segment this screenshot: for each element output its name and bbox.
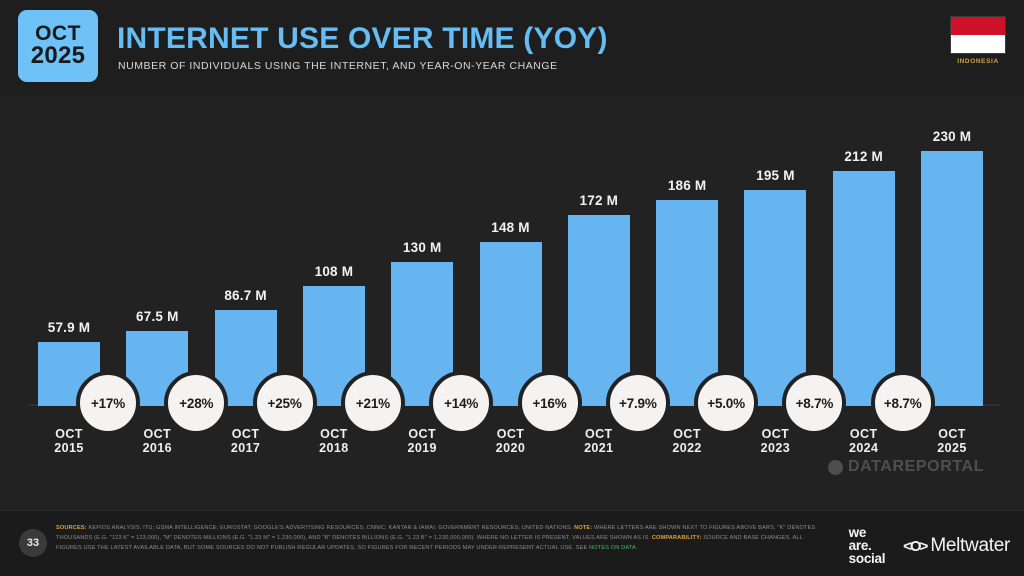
country-label: INDONESIA <box>957 58 999 65</box>
brand-logos: weare.social <O> Meltwater <box>849 527 1010 565</box>
yoy-change-bubble: +7.9% <box>606 371 670 435</box>
x-label-line: 2025 <box>937 441 966 455</box>
bar <box>833 171 895 406</box>
comparability-label: COMPARABILITY: <box>652 535 702 541</box>
bar-column: 230 MOCT2025 <box>913 96 1005 511</box>
x-label-line: 2015 <box>54 441 83 455</box>
notes-on-data-link[interactable]: NOTES ON DATA <box>589 545 636 551</box>
bar-value-label: 67.5 M <box>118 309 196 324</box>
x-label-line: 2017 <box>231 441 260 455</box>
slide-header: OCT 2025 INTERNET USE OVER TIME (YOY) NU… <box>0 0 1024 96</box>
slide-root: OCT 2025 INTERNET USE OVER TIME (YOY) NU… <box>0 0 1024 576</box>
bar-value-label: 230 M <box>913 129 991 144</box>
page-number-badge: 33 <box>19 529 47 557</box>
note-label: NOTE: <box>574 525 592 531</box>
bar-column: 195 MOCT2023 <box>736 96 828 511</box>
x-label-line: OCT <box>585 427 613 441</box>
date-badge-year: 2025 <box>31 44 86 68</box>
bar-column: 67.5 MOCT2016 <box>118 96 210 511</box>
bar-value-label: 130 M <box>383 240 461 255</box>
page-title: INTERNET USE OVER TIME (YOY) <box>117 22 608 56</box>
x-label-line: OCT <box>408 427 436 441</box>
x-label-line: 2023 <box>761 441 790 455</box>
yoy-change-bubble: +28% <box>164 371 228 435</box>
meltwater-eye-icon: <O> <box>903 538 926 555</box>
x-label-line: OCT <box>762 427 790 441</box>
bar-chart: 57.9 MOCT201567.5 MOCT201686.7 MOCT20171… <box>0 96 1024 511</box>
meltwater-wordmark: Meltwater <box>930 535 1010 557</box>
bar-value-label: 148 M <box>472 220 550 235</box>
bar-column: 186 MOCT2022 <box>648 96 740 511</box>
yoy-change-bubble: +8.7% <box>782 371 846 435</box>
bar-column: 86.7 MOCT2017 <box>207 96 299 511</box>
x-label-line: 2020 <box>496 441 525 455</box>
x-label-line: OCT <box>673 427 701 441</box>
bar-column: 108 MOCT2018 <box>295 96 387 511</box>
sources-note: SOURCES: KEPIOS ANALYSIS; ITU; GSMA INTE… <box>56 524 816 554</box>
flag-stripe-white <box>951 35 1005 53</box>
date-badge: OCT 2025 <box>18 10 98 82</box>
indonesia-flag-icon <box>950 16 1006 54</box>
x-label-line: 2024 <box>849 441 878 455</box>
bar-value-label: 172 M <box>560 193 638 208</box>
bar-value-label: 195 M <box>736 168 814 183</box>
bar-value-label: 86.7 M <box>207 288 285 303</box>
bar-value-label: 186 M <box>648 178 726 193</box>
x-label-line: OCT <box>938 427 966 441</box>
yoy-change-bubble: +5.0% <box>694 371 758 435</box>
flag-stripe-red <box>951 17 1005 35</box>
x-axis-label: OCT2025 <box>913 427 991 455</box>
bar <box>921 151 983 406</box>
yoy-change-bubble: +21% <box>341 371 405 435</box>
date-badge-month: OCT <box>35 23 81 44</box>
yoy-change-bubble: +17% <box>76 371 140 435</box>
yoy-change-bubble: +16% <box>518 371 582 435</box>
we-are-social-line: social <box>849 553 885 566</box>
we-are-social-logo: weare.social <box>849 527 885 565</box>
bar <box>744 190 806 406</box>
bar-value-label: 108 M <box>295 264 373 279</box>
x-label-line: OCT <box>320 427 348 441</box>
sources-body: KEPIOS ANALYSIS; ITU; GSMA INTELLIGENCE;… <box>87 525 574 531</box>
slide-footer: 33 SOURCES: KEPIOS ANALYSIS; ITU; GSMA I… <box>0 510 1024 576</box>
x-label-line: OCT <box>232 427 260 441</box>
x-label-line: 2021 <box>584 441 613 455</box>
bar-value-label: 212 M <box>825 149 903 164</box>
sources-label: SOURCES: <box>56 525 87 531</box>
yoy-change-bubble: +8.7% <box>871 371 935 435</box>
country-flag-block: INDONESIA <box>950 16 1006 65</box>
yoy-change-bubble: +25% <box>253 371 317 435</box>
bar-column: 148 MOCT2020 <box>472 96 564 511</box>
x-label-line: OCT <box>55 427 83 441</box>
x-label-line: 2022 <box>672 441 701 455</box>
sources-suffix: . <box>636 545 638 551</box>
x-label-line: 2018 <box>319 441 348 455</box>
bar-column: 57.9 MOCT2015 <box>30 96 122 511</box>
x-label-line: 2019 <box>407 441 436 455</box>
x-label-line: OCT <box>497 427 525 441</box>
bar-column: 130 MOCT2019 <box>383 96 475 511</box>
x-label-line: OCT <box>850 427 878 441</box>
bar-column: 172 MOCT2021 <box>560 96 652 511</box>
x-label-line: OCT <box>144 427 172 441</box>
bar-column: 212 MOCT2024 <box>825 96 917 511</box>
yoy-change-bubble: +14% <box>429 371 493 435</box>
meltwater-logo: <O> Meltwater <box>903 535 1010 557</box>
x-label-line: 2016 <box>143 441 172 455</box>
page-subtitle: NUMBER OF INDIVIDUALS USING THE INTERNET… <box>118 60 558 72</box>
bar-value-label: 57.9 M <box>30 320 108 335</box>
